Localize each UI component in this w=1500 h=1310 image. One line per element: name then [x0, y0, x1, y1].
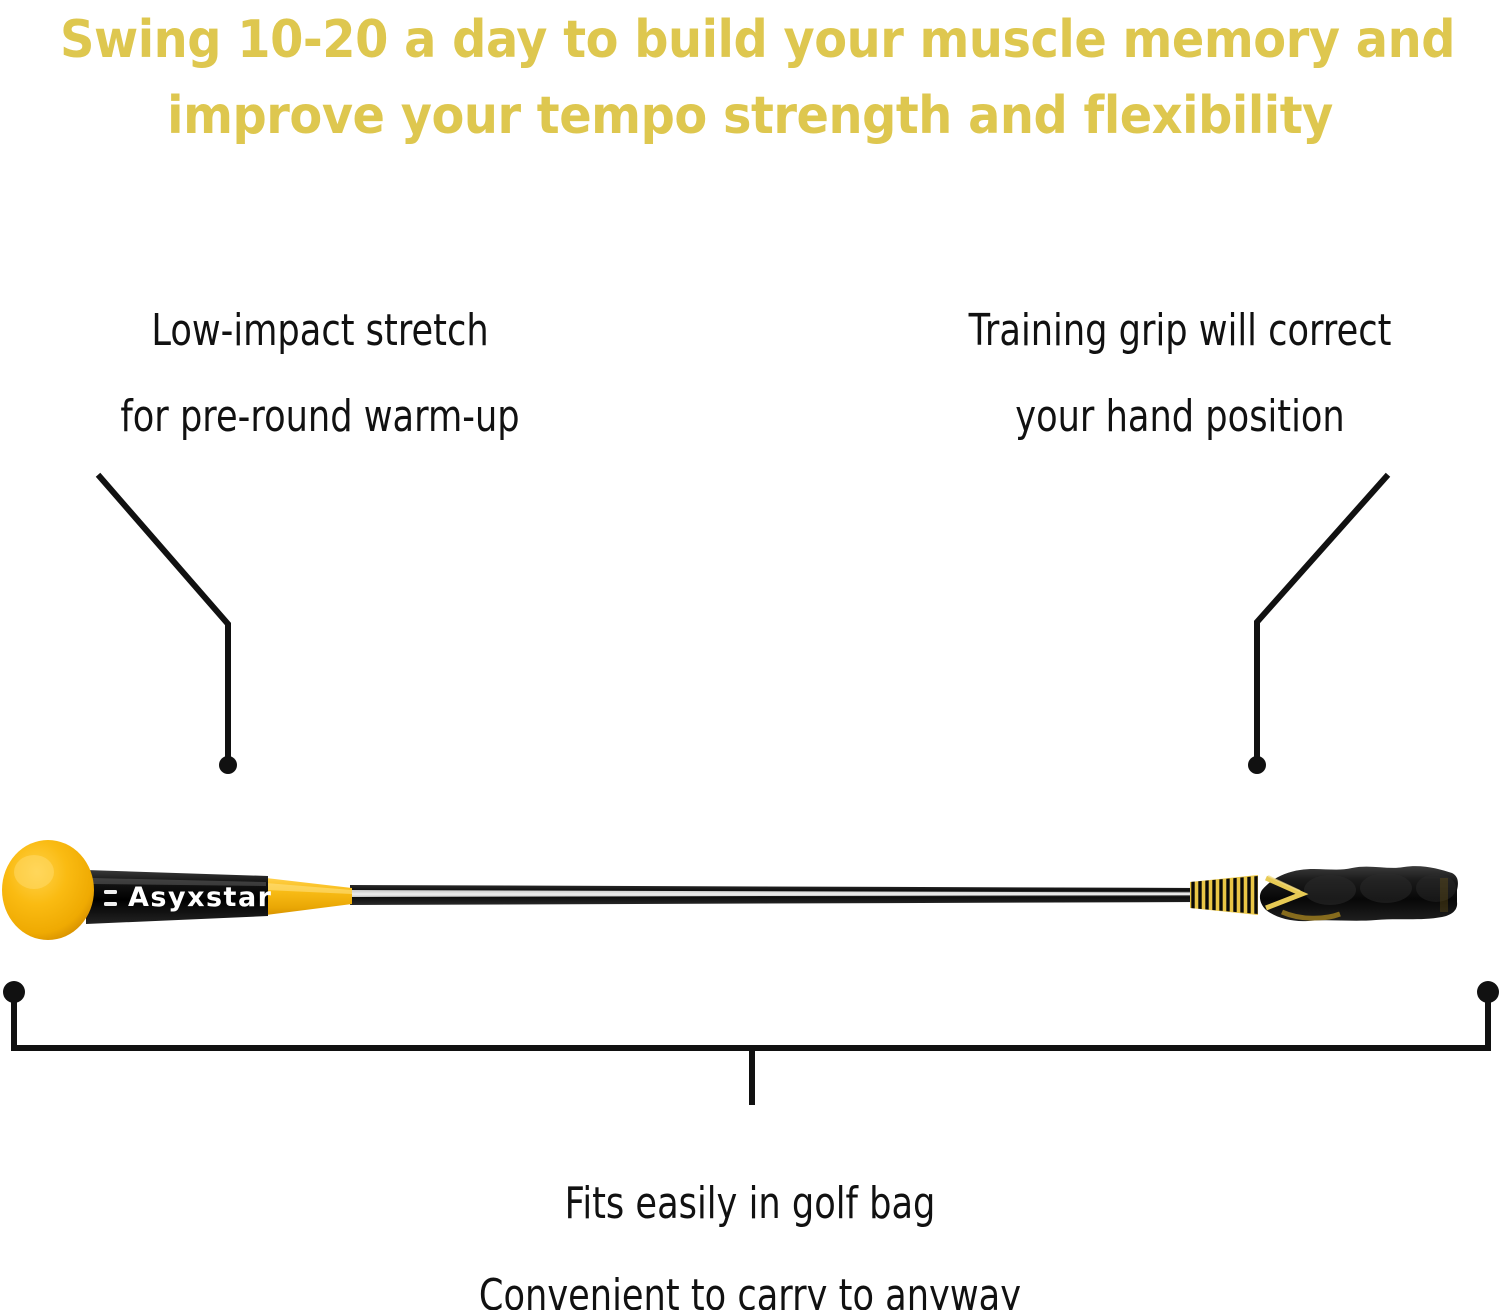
yellow-taper-sleeve — [266, 878, 352, 915]
callout-right-line-2: your hand position — [924, 374, 1436, 460]
headline-line-2: improve your tempo strength and flexibil… — [60, 78, 1440, 154]
callout-bottom-text: Fits easily in golf bag Convenient to ca… — [430, 1158, 1070, 1310]
weighted-ball-head — [2, 840, 94, 940]
callout-left-line-1: Low-impact stretch — [64, 288, 576, 374]
callout-bottom-line-2: Convenient to carry to anyway — [430, 1250, 1070, 1310]
callout-right-text: Training grip will correct your hand pos… — [924, 288, 1436, 460]
span-bracket — [3, 981, 1499, 1105]
headline-line-1: Swing 10-20 a day to build your muscle m… — [60, 2, 1440, 78]
brand-wordmark: Asyxstar — [128, 882, 273, 913]
bracket-right-dot — [1477, 981, 1499, 1003]
yellow-ribbed-section — [1190, 870, 1258, 920]
left-leader-line — [100, 477, 237, 774]
product-illustration-golf-swing-trainer: Asyxstar — [0, 820, 1500, 970]
bracket-left-dot — [3, 981, 25, 1003]
callout-left-text: Low-impact stretch for pre-round warm-up — [64, 288, 576, 460]
collar-dash-1 — [104, 890, 117, 894]
left-leader-dot — [219, 756, 237, 774]
collar-dash-2 — [104, 902, 117, 906]
right-leader-line — [1248, 477, 1386, 774]
headline: Swing 10-20 a day to build your muscle m… — [60, 2, 1440, 154]
callout-left-line-2: for pre-round warm-up — [64, 374, 576, 460]
molded-training-grip — [1260, 866, 1458, 921]
callout-bottom-line-1: Fits easily in golf bag — [430, 1158, 1070, 1250]
callout-right-line-1: Training grip will correct — [924, 288, 1436, 374]
infographic-canvas: Swing 10-20 a day to build your muscle m… — [0, 0, 1500, 1310]
annotation-lines — [0, 0, 1500, 1310]
ball-highlight — [14, 855, 54, 889]
right-leader-dot — [1248, 756, 1266, 774]
